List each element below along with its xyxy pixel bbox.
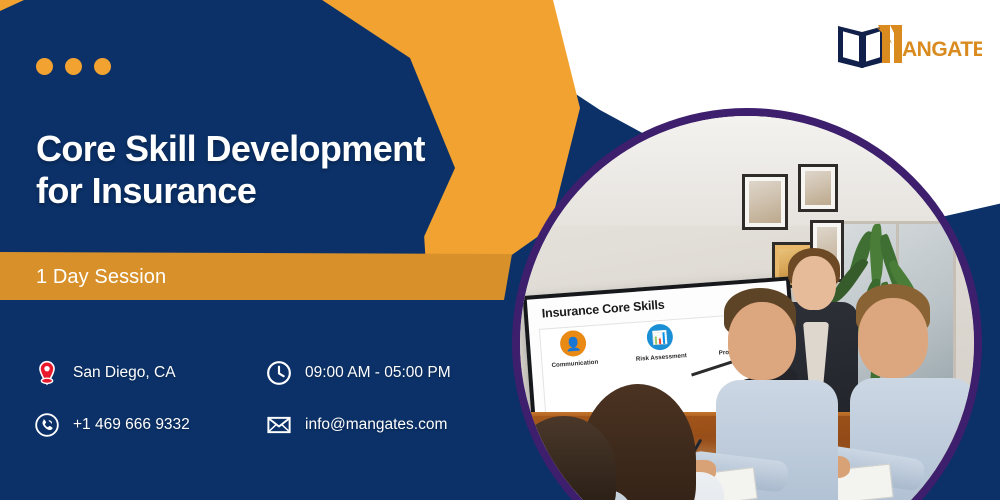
contact-phone: +1 469 666 9332 [34, 412, 266, 438]
photo-scene: Insurance Core Skills 👤 Communication 📊 … [520, 116, 974, 500]
contact-time: 09:00 AM - 05:00 PM [266, 360, 504, 386]
board-title: Insurance Core Skills [541, 298, 665, 321]
contact-time-label: 09:00 AM - 05:00 PM [305, 364, 451, 382]
contact-location: San Diego, CA [34, 360, 266, 386]
clock-icon [266, 360, 292, 386]
dot-icon [36, 58, 53, 75]
dot-icon [65, 58, 82, 75]
board-skill-item: 👤 Communication [538, 328, 611, 371]
risk-assessment-icon: 📊 [646, 323, 674, 351]
contact-email-label: info@mangates.com [305, 416, 447, 434]
title-line-1: Core Skill Development [36, 128, 425, 169]
contact-details: San Diego, CA 09:00 AM - 05:00 PM +1 469… [34, 360, 504, 438]
title-line-2: for Insurance [36, 170, 256, 211]
email-icon [266, 412, 292, 438]
decorative-dots [36, 58, 111, 75]
session-badge-label: 1 Day Session [36, 266, 166, 289]
wall-frame [798, 164, 838, 212]
wall-frame [742, 174, 788, 230]
logo-text: ANGATES [902, 38, 982, 61]
location-pin-icon [34, 360, 60, 386]
communication-icon: 👤 [560, 330, 588, 358]
board-skill-item: 📊 Risk Assessment [624, 322, 697, 365]
book-icon [838, 26, 884, 68]
corner-orange-triangle [0, 0, 24, 11]
contact-email: info@mangates.com [266, 412, 504, 438]
contact-location-label: San Diego, CA [73, 364, 176, 382]
event-banner: Insurance Core Skills 👤 Communication 📊 … [0, 0, 1000, 500]
dot-icon [94, 58, 111, 75]
page-title: Core Skill Developmentfor Insurance [36, 128, 496, 213]
presenter-head [792, 256, 836, 310]
training-photo: Insurance Core Skills 👤 Communication 📊 … [520, 116, 974, 500]
mangates-logo: ANGATES [832, 16, 982, 72]
phone-icon [34, 412, 60, 438]
contact-phone-label: +1 469 666 9332 [73, 416, 190, 434]
